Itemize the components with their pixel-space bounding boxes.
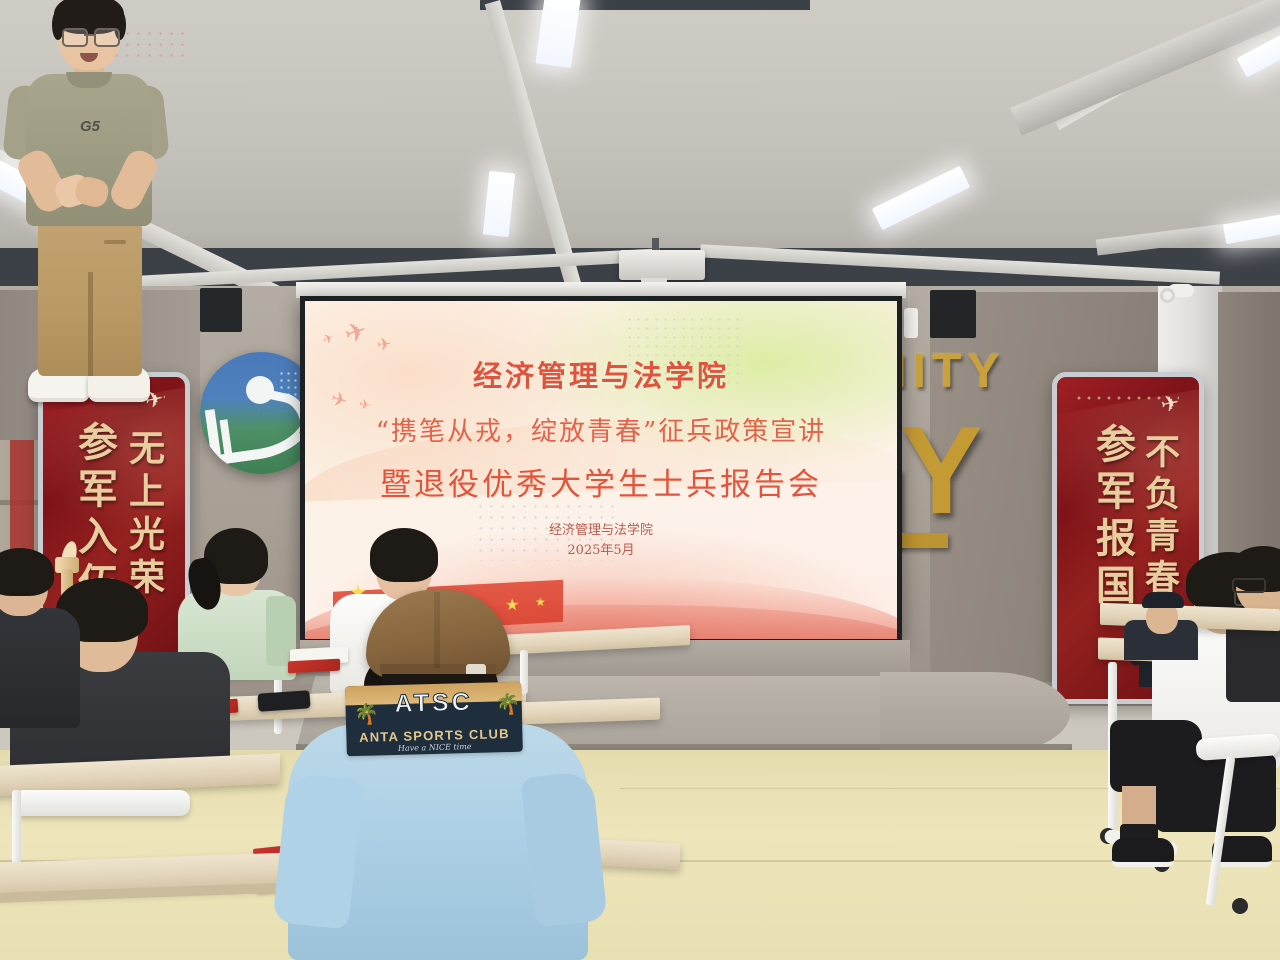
sensor-cable bbox=[908, 290, 910, 310]
dove-icon: ✈ bbox=[341, 314, 371, 350]
audience-member-uniform bbox=[1124, 590, 1198, 660]
ceiling-duct bbox=[1010, 0, 1280, 136]
student-leg bbox=[1110, 720, 1202, 792]
ceiling-projector bbox=[619, 250, 705, 280]
cabinet-red-item bbox=[10, 440, 34, 560]
fluorescent-light bbox=[483, 171, 516, 237]
shirt-graphic: 🌴 🌴 ATSC ANTA SPORTS CLUB Have a NICE ti… bbox=[345, 682, 523, 757]
glasses-icon bbox=[62, 28, 88, 47]
slide-title: 经济管理与法学院 bbox=[305, 353, 897, 395]
banner-right-secondary-text: 参军报国 bbox=[1083, 423, 1141, 611]
glasses-icon bbox=[1232, 578, 1266, 593]
wall-sensor bbox=[904, 308, 918, 338]
fluorescent-light bbox=[1223, 212, 1280, 245]
slide-subtitle-line1: “携笔从戎，绽放青春”征兵政策宣讲 bbox=[305, 411, 897, 448]
student-hair bbox=[370, 528, 438, 582]
presenter-shirt-logo: G5 bbox=[80, 118, 114, 135]
wall-speaker bbox=[930, 290, 976, 338]
wall-gold-letter-y: Y bbox=[900, 400, 983, 542]
glasses-icon bbox=[94, 28, 120, 47]
audience-member bbox=[0, 548, 80, 728]
dove-icon: ✈ bbox=[320, 329, 337, 348]
lecture-hall-photo: NITY Y ✈ ✈ ✈ ✈ ✈ 经济管理与法学院 “携笔从戎，绽放青春”征兵政… bbox=[0, 0, 1280, 960]
fluorescent-light bbox=[535, 0, 580, 68]
student-hair bbox=[0, 548, 54, 596]
chair-caster bbox=[1232, 898, 1248, 914]
wall-speaker bbox=[200, 288, 242, 332]
banner-left-primary-text: 无上光荣 bbox=[117, 429, 169, 601]
security-camera bbox=[1160, 284, 1194, 304]
foreground-student: 🌴 🌴 ATSC ANTA SPORTS CLUB Have a NICE ti… bbox=[288, 588, 588, 960]
chair-back bbox=[14, 790, 190, 816]
stage-platform-round bbox=[880, 672, 1070, 754]
student-sleeve bbox=[272, 772, 363, 929]
student-torso bbox=[0, 608, 80, 728]
fluorescent-light bbox=[872, 166, 971, 231]
slide-subtitle-line2: 暨退役优秀大学生士兵报告会 bbox=[305, 459, 897, 504]
uniform-cap bbox=[1142, 592, 1184, 608]
shirt-graphic-main: ATSC bbox=[345, 687, 522, 721]
sneaker bbox=[1112, 838, 1174, 867]
